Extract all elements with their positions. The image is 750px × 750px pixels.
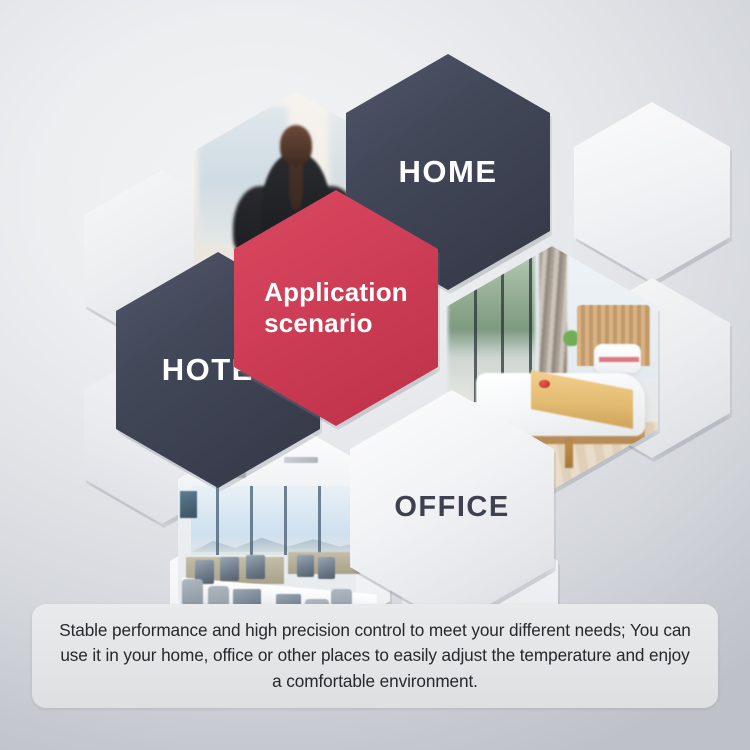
hex-home-label: HOME	[399, 155, 498, 188]
center-hex-label-line2: scenario	[264, 308, 373, 338]
caption-text: Stable performance and high precision co…	[54, 618, 696, 693]
hex-office-label: OFFICE	[394, 492, 509, 523]
center-hex-label: Application scenario	[264, 277, 408, 338]
infographic-canvas: HOME HOTEL OFFICE Application scenario S…	[0, 0, 750, 750]
center-hex-label-line1: Application	[264, 277, 408, 307]
caption-panel: Stable performance and high precision co…	[32, 604, 718, 708]
